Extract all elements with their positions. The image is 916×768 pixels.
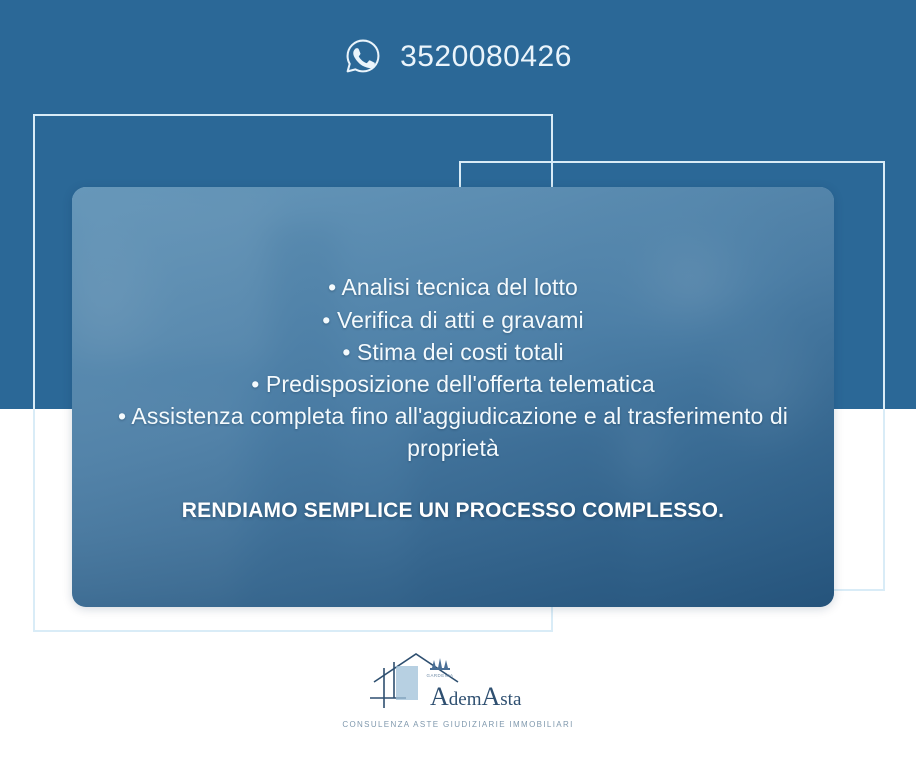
brand-logo: GARDENIA AdemAsta CONSULENZA ASTE GIUDIZ… [0,648,916,729]
service-bullet-list: • Analisi tecnica del lotto • Verifica d… [112,271,794,464]
list-item: • Analisi tecnica del lotto [112,271,794,303]
card-content: • Analisi tecnica del lotto • Verifica d… [72,187,834,607]
logo-subtitle: CONSULENZA ASTE GIUDIZIARIE IMMOBILIARI [342,720,573,729]
emblem-crest [430,658,450,670]
emblem-text: GARDENIA [427,673,454,678]
tagline-text: RENDIAMO SEMPLICE UN PROCESSO COMPLESSO. [182,499,724,523]
content-card: • Analisi tecnica del lotto • Verifica d… [72,187,834,607]
header-contact-bar: 3520080426 [0,0,916,114]
logo-mark: GARDENIA AdemAsta [358,648,558,718]
list-item: • Verifica di atti e gravami [112,304,794,336]
whatsapp-icon[interactable] [344,37,382,75]
list-item: • Stima dei costi totali [112,336,794,368]
poster-canvas: 3520080426 • Analisi tecnica del lotto •… [0,0,916,768]
list-item: • Predisposizione dell'offerta telematic… [112,368,794,400]
logo-wordmark: AdemAsta [430,682,522,711]
phone-number[interactable]: 3520080426 [400,42,572,72]
list-item: • Assistenza completa fino all'aggiudica… [112,400,794,464]
